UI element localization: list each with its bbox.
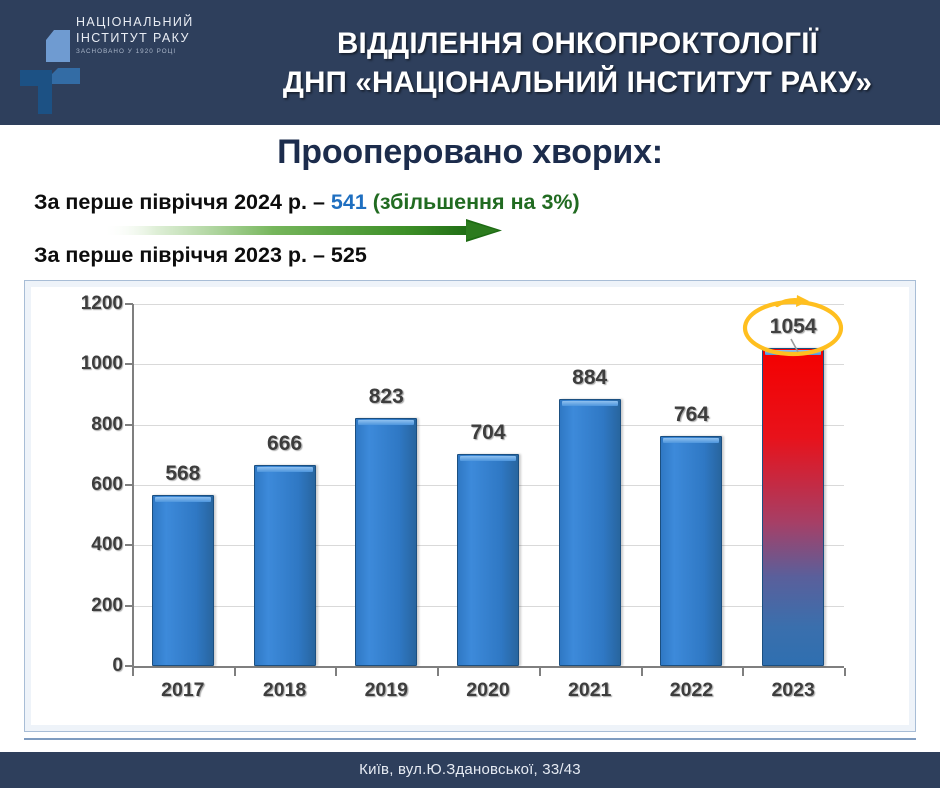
y-axis-tick [125, 484, 133, 486]
bar-2021[interactable] [559, 399, 621, 666]
bar-2017[interactable] [152, 495, 214, 666]
y-axis-tick [125, 665, 133, 667]
x-axis-tick [539, 668, 541, 676]
stat-2024-prefix: За перше півріччя 2024 р. – [34, 190, 331, 214]
bar-2020[interactable] [457, 454, 519, 666]
page-title: Прооперовано хворих: [0, 133, 940, 172]
stat-2024-note: (збільшення на 3%) [367, 190, 580, 214]
logo-line-1: НАЦІОНАЛЬНИЙ [76, 14, 216, 30]
bar-value-label-2017: 568 [165, 462, 200, 486]
y-axis-tick [125, 605, 133, 607]
y-axis-tick-label: 0 [37, 655, 123, 677]
bar-value-label-2019: 823 [369, 385, 404, 409]
x-axis-label-2017: 2017 [161, 679, 204, 702]
logo-wordmark: НАЦІОНАЛЬНИЙ ІНСТИТУТ РАКУ ЗАСНОВАНО У 1… [76, 14, 216, 57]
y-axis-tick-label: 1200 [37, 293, 123, 315]
bar-value-label-2021: 884 [572, 366, 607, 390]
footer-address: Київ, вул.Ю.Здановської, 33/43 [0, 761, 940, 778]
x-axis-label-2020: 2020 [466, 679, 509, 702]
x-axis-tick [641, 668, 643, 676]
chart-container: 020040060080010001200 568666823704884764… [24, 280, 916, 732]
slide-root: НАЦІОНАЛЬНИЙ ІНСТИТУТ РАКУ ЗАСНОВАНО У 1… [0, 0, 940, 788]
stat-2024-value: 541 [331, 190, 367, 214]
y-axis-tick-label: 600 [37, 474, 123, 496]
x-axis-tick [844, 668, 846, 676]
gridline [132, 304, 844, 305]
bar-value-label-2020: 704 [470, 421, 505, 445]
bar-value-label-2022: 764 [674, 403, 709, 427]
x-axis-tick [335, 668, 337, 676]
stat-2023-prefix: За перше півріччя 2023 р. – [34, 243, 331, 267]
bar-2019[interactable] [355, 418, 417, 666]
x-axis-tick [132, 668, 134, 676]
y-axis-tick-label: 1000 [37, 353, 123, 375]
x-axis-label-2021: 2021 [568, 679, 611, 702]
y-axis-tick-label: 200 [37, 595, 123, 617]
x-axis-label-2019: 2019 [365, 679, 408, 702]
bar-2018[interactable] [254, 465, 316, 666]
bar-value-label-2023: 1054 [770, 315, 817, 339]
x-axis-label-2022: 2022 [670, 679, 713, 702]
stat-line-2023: За перше півріччя 2023 р. – 525 [34, 243, 367, 268]
stat-line-2024: За перше півріччя 2024 р. – 541 (збільше… [34, 190, 580, 215]
x-axis-line [132, 666, 844, 668]
bar-value-label-2018: 666 [267, 432, 302, 456]
slide-footer: Київ, вул.Ю.Здановської, 33/43 [0, 752, 940, 788]
y-axis-tick-label: 800 [37, 414, 123, 436]
stat-2023-value: 525 [331, 243, 367, 267]
y-axis-tick [125, 544, 133, 546]
header-title: ВІДДІЛЕННЯ ОНКОПРОКТОЛОГІЇ ДНП «НАЦІОНАЛ… [215, 24, 940, 102]
bar-2022[interactable] [660, 436, 722, 666]
logo-tagline: ЗАСНОВАНО У 1920 РОЦІ [76, 47, 216, 57]
y-axis-tick [125, 424, 133, 426]
footer-divider [24, 738, 916, 740]
header-title-line-1: ВІДДІЛЕННЯ ОНКОПРОКТОЛОГІЇ [337, 27, 818, 60]
y-axis-tick [125, 303, 133, 305]
y-axis-tick-label: 400 [37, 534, 123, 556]
x-axis-label-2018: 2018 [263, 679, 306, 702]
logo-line-2: ІНСТИТУТ РАКУ [76, 30, 216, 46]
header-title-line-2: ДНП «НАЦІОНАЛЬНИЙ ІНСТИТУТ РАКУ» [215, 63, 940, 102]
institute-logo: НАЦІОНАЛЬНИЙ ІНСТИТУТ РАКУ ЗАСНОВАНО У 1… [18, 14, 213, 114]
x-axis-tick [234, 668, 236, 676]
logo-mark-icon [18, 26, 80, 114]
y-axis-labels: 020040060080010001200 [31, 287, 123, 687]
x-axis-tick [742, 668, 744, 676]
y-axis-tick [125, 363, 133, 365]
slide-header: НАЦІОНАЛЬНИЙ ІНСТИТУТ РАКУ ЗАСНОВАНО У 1… [0, 0, 940, 125]
x-axis-tick [437, 668, 439, 676]
bar-2023[interactable] [762, 348, 824, 666]
gridline [132, 364, 844, 365]
chart-plot-region: 020040060080010001200 568666823704884764… [31, 287, 909, 725]
x-axis-label-2023: 2023 [771, 679, 814, 702]
